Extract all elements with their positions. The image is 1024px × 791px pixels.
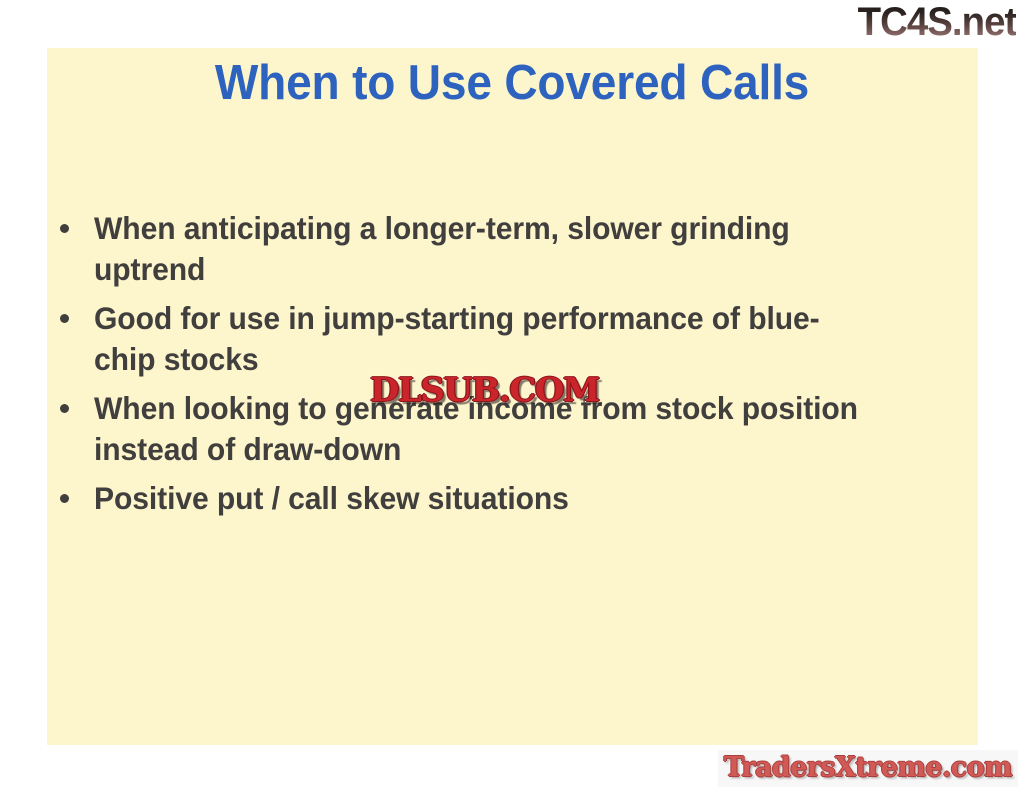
bullet-dot-icon [60, 314, 69, 323]
dlsub-watermark: DLSUB.COM [370, 372, 599, 408]
list-item: When anticipating a longer-term, slower … [54, 208, 914, 290]
bullet-dot-icon [60, 494, 69, 503]
list-item-label: When anticipating a longer-term, slower … [94, 208, 877, 290]
list-item: Good for use in jump-starting performanc… [54, 298, 914, 380]
list-item-label: Positive put / call skew situations [94, 478, 877, 519]
bullet-dot-icon [60, 224, 69, 233]
bullet-dot-icon [60, 404, 69, 413]
bullet-list: When anticipating a longer-term, slower … [54, 208, 914, 527]
tc4s-logo: TC4S.net [857, 1, 1016, 43]
list-item: Positive put / call skew situations [54, 478, 914, 519]
page-title: When to Use Covered Calls [31, 58, 994, 109]
list-item-label: Good for use in jump-starting performanc… [94, 298, 877, 380]
tradersxtreme-watermark: TradersXtreme.com [718, 750, 1018, 787]
